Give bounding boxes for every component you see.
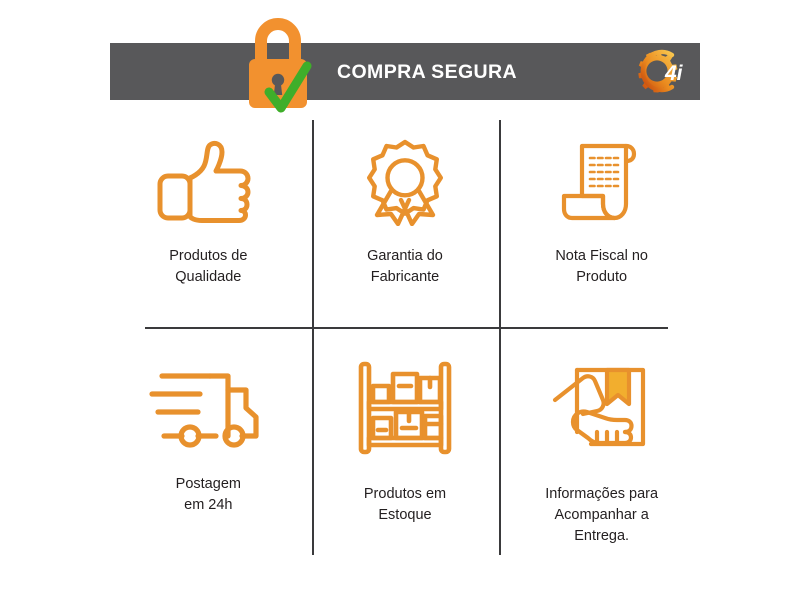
feature-postagem-24h: Postagem em 24h [110, 340, 307, 560]
page-title: COMPRA SEGURA [337, 58, 617, 86]
feature-produtos-qualidade: Produtos de Qualidade [110, 120, 307, 340]
gear-logo-icon: 4i [632, 46, 690, 96]
package-handover-icon [547, 360, 657, 456]
feature-label: Informações para Acompanhar a Entrega. [545, 484, 658, 547]
invoice-scroll-icon [552, 138, 652, 226]
feature-produtos-estoque: Produtos em Estoque [307, 340, 504, 560]
delivery-truck-icon [146, 360, 271, 456]
award-badge-icon [355, 138, 455, 226]
warehouse-shelf-icon [349, 360, 461, 456]
feature-label: Garantia do Fabricante [367, 246, 443, 288]
feature-nota-fiscal: Nota Fiscal no Produto [503, 120, 700, 340]
logo-wordmark: 4i [664, 62, 684, 85]
feature-grid: Produtos de Qualidade Garantia do Fabric… [110, 120, 700, 560]
feature-acompanhar-entrega: Informações para Acompanhar a Entrega. [503, 340, 700, 560]
feature-label: Produtos de Qualidade [169, 246, 247, 288]
compra-segura-banner: COMPRA SEGURA 4i [0, 0, 810, 590]
thumbs-up-icon [152, 138, 264, 226]
feature-garantia-fabricante: Garantia do Fabricante [307, 120, 504, 340]
feature-label: Postagem em 24h [176, 474, 241, 516]
feature-label: Produtos em Estoque [364, 484, 446, 526]
lock-icon [243, 18, 313, 118]
feature-label: Nota Fiscal no Produto [555, 246, 648, 288]
